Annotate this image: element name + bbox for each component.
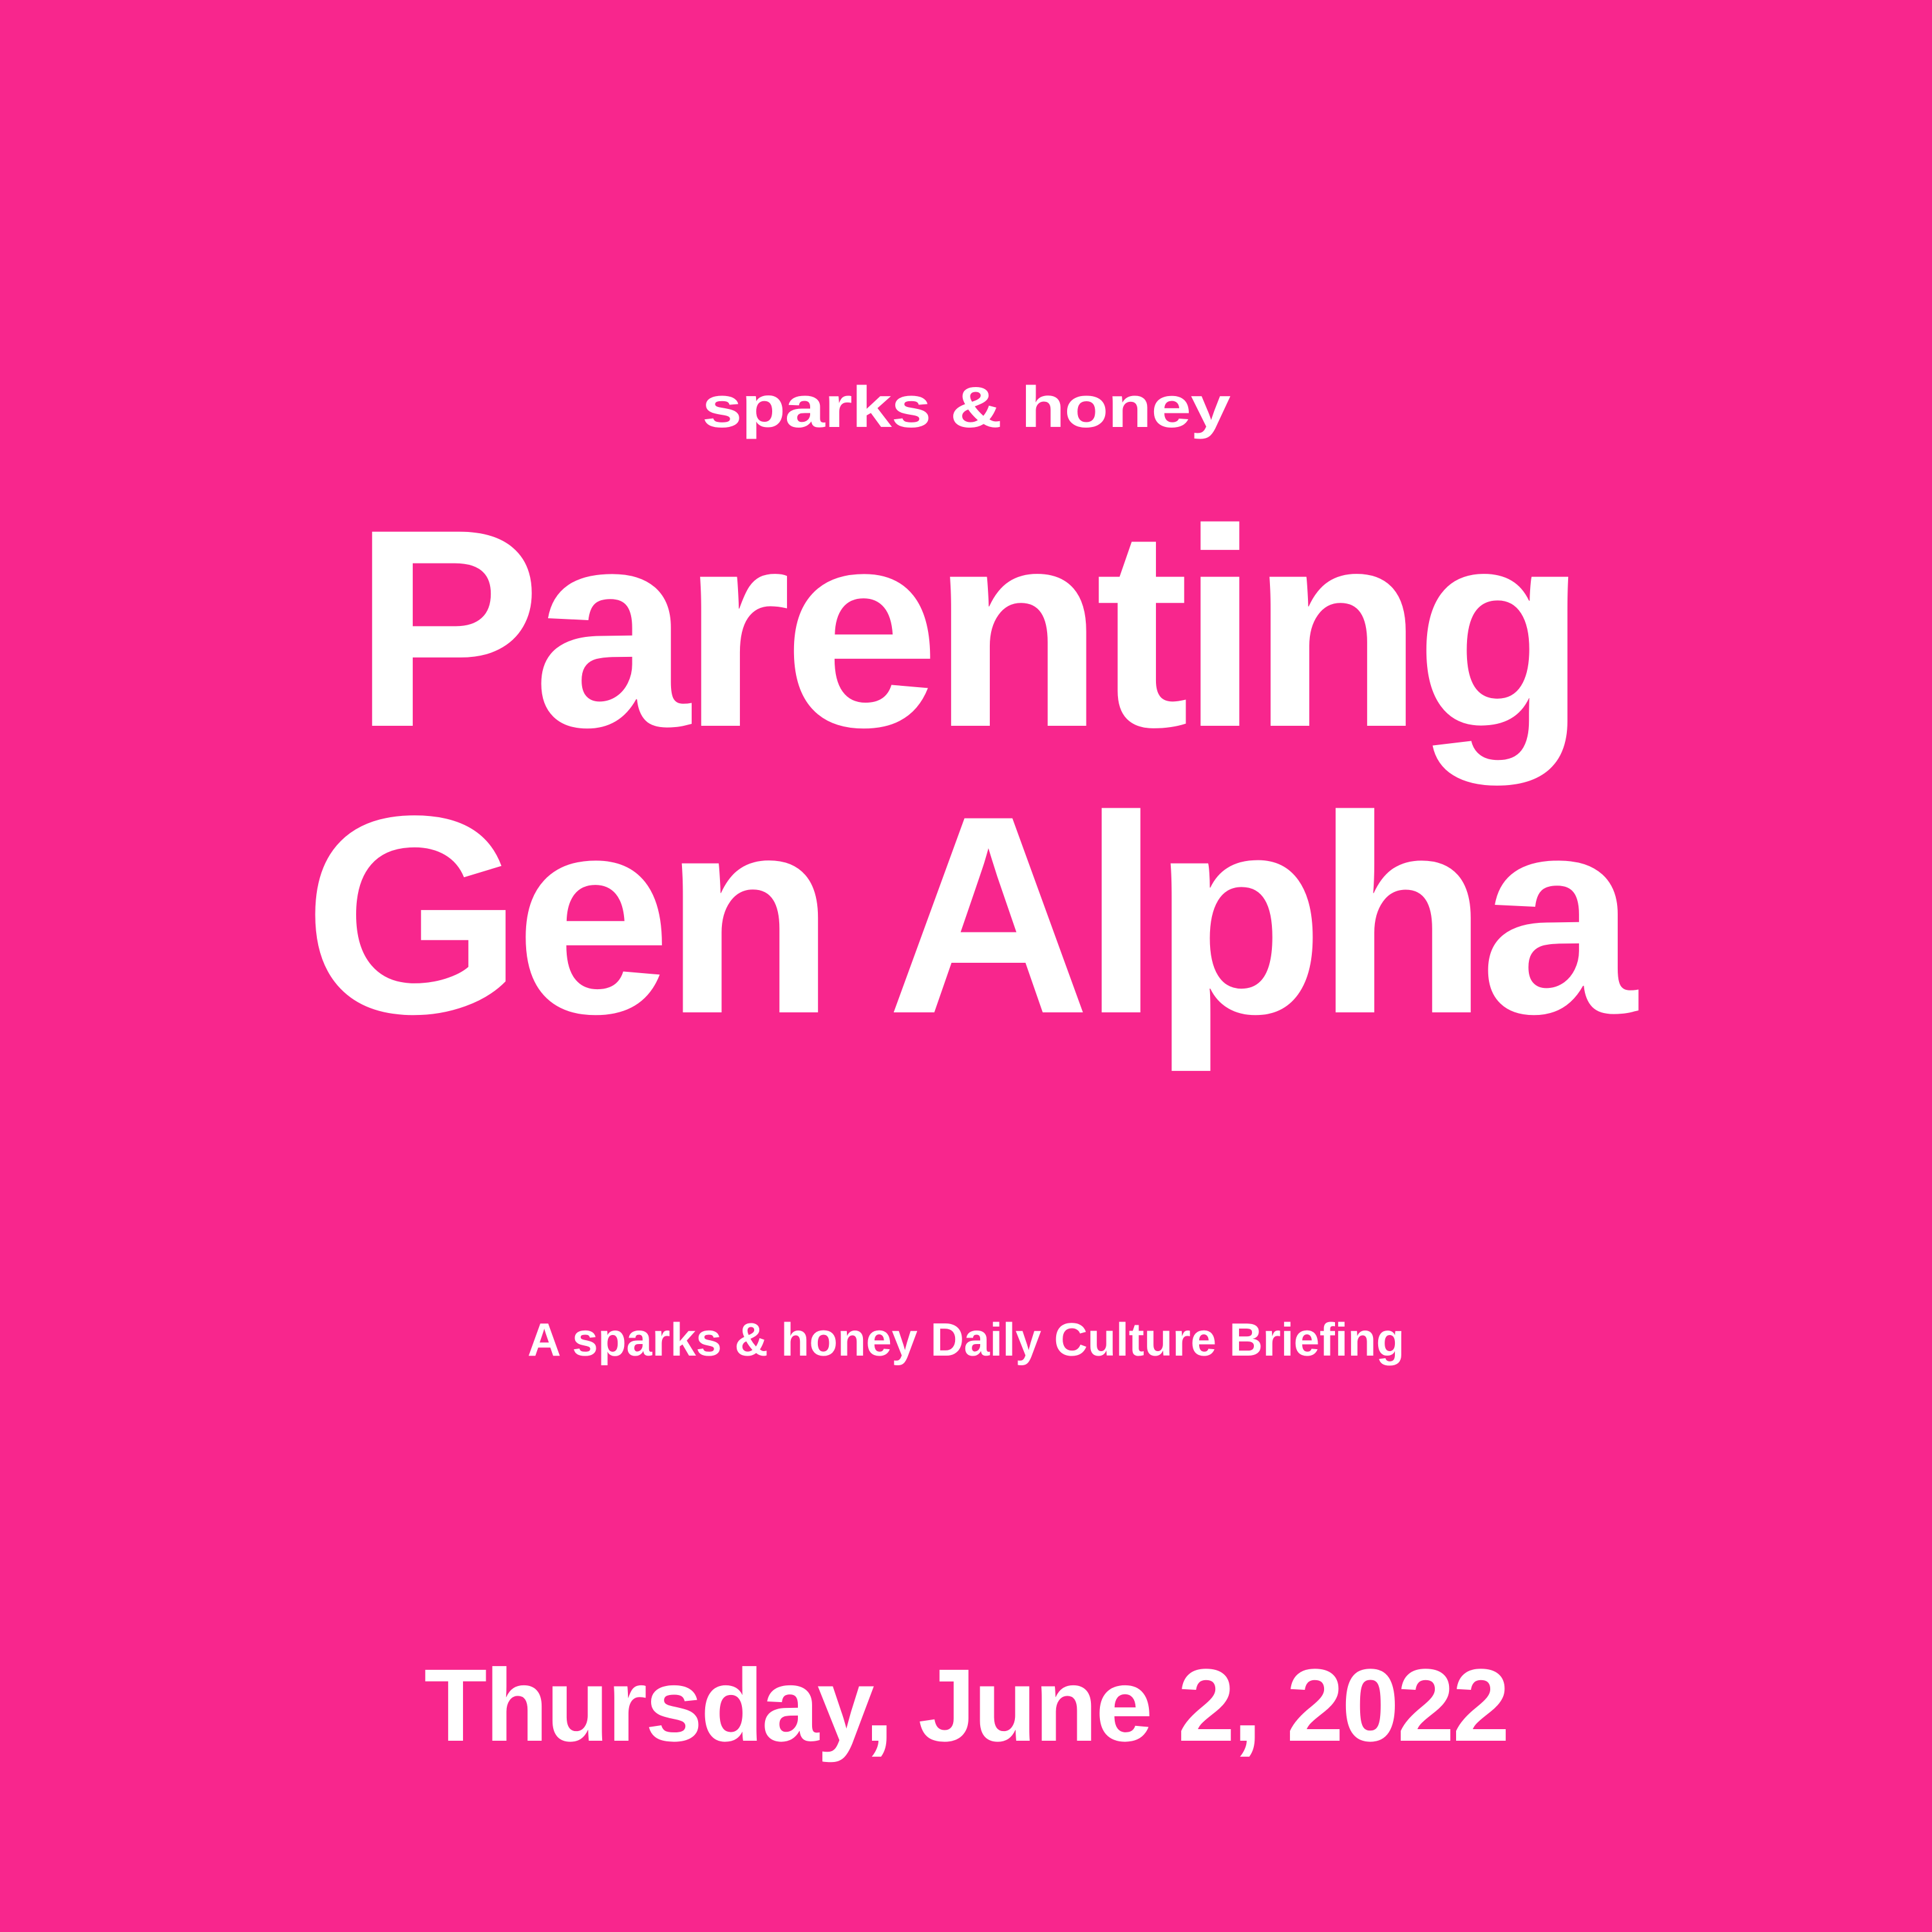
page-title-line-1: Parenting <box>0 489 1932 767</box>
page-title: Parenting Gen Alpha <box>0 489 1932 1054</box>
page-title-line-2: Gen Alpha <box>0 776 1932 1054</box>
brand-logo: sparks & honey <box>0 379 1932 451</box>
publication-date: Thursday, June 2, 2022 <box>0 1649 1932 1762</box>
page-subtitle: A sparks & honey Daily Culture Briefing <box>0 1315 1932 1366</box>
title-slide: sparks & honey Parenting Gen Alpha A spa… <box>0 0 1932 1932</box>
brand-logo-text: sparks & honey <box>702 379 1230 437</box>
